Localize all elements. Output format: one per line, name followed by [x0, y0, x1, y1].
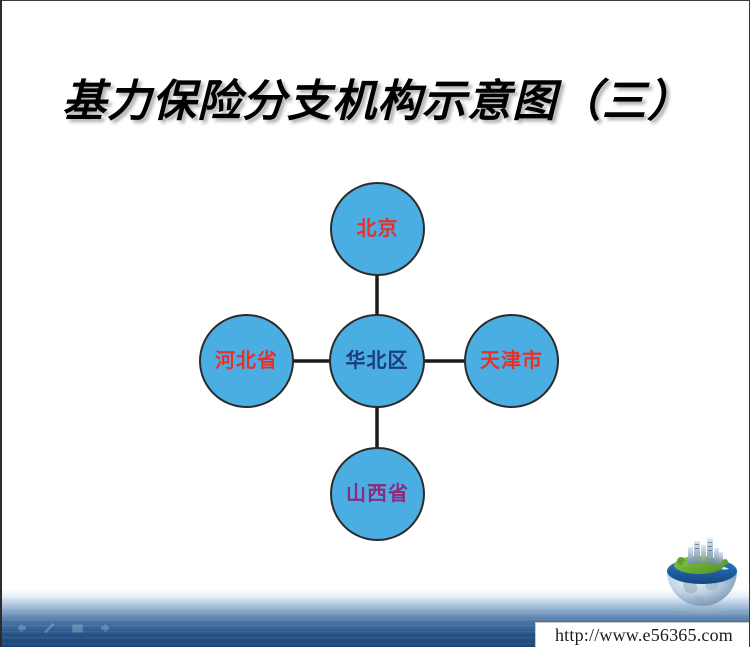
node-label-beijing: 北京: [357, 219, 399, 239]
slide-nav-controls[interactable]: [14, 621, 113, 635]
node-label-tianjin: 天津市: [480, 351, 543, 371]
diagram-node-beijing[interactable]: 北京: [330, 182, 425, 276]
earth-globe-city-logo: [659, 533, 745, 619]
watermark-url-text: http://www.e56365.com: [555, 625, 733, 646]
diagram-node-shanxi[interactable]: 山西省: [330, 447, 425, 541]
diagram-node-north-china-region[interactable]: 华北区: [329, 314, 425, 408]
forward-arrow-icon[interactable]: [98, 621, 113, 635]
node-label-north-china-region: 华北区: [346, 351, 409, 371]
node-label-shanxi: 山西省: [346, 484, 409, 504]
node-label-hebei: 河北省: [215, 351, 278, 371]
back-arrow-icon[interactable]: [14, 621, 29, 635]
diagram-node-tianjin[interactable]: 天津市: [464, 314, 559, 408]
diagram-node-hebei[interactable]: 河北省: [199, 314, 294, 408]
pencil-icon[interactable]: [42, 621, 57, 635]
presentation-slide: 基力保险分支机构示意图（三） 北京 河北省 华北区 天津市: [0, 0, 750, 647]
org-diagram: 北京 河北省 华北区 天津市 山西省: [2, 1, 750, 647]
rectangle-icon[interactable]: [70, 621, 85, 635]
watermark-url-bar: http://www.e56365.com: [535, 622, 750, 647]
